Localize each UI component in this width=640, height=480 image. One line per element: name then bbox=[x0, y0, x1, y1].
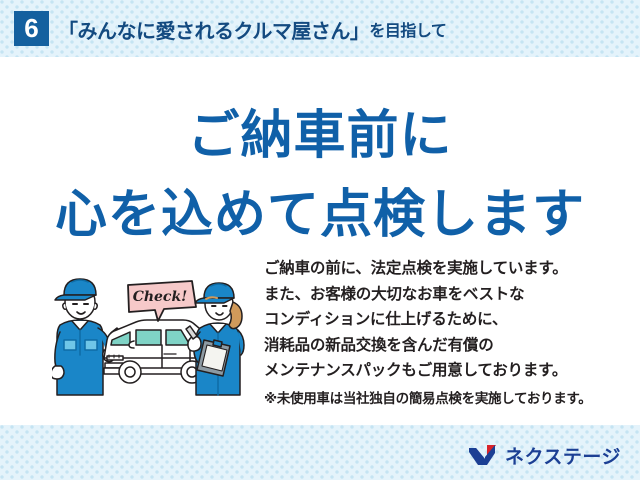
illustration-svg: Check! bbox=[52, 262, 267, 397]
page-title-line-1: ご納車前に bbox=[0, 93, 640, 168]
body-line: コンディションに仕上げるために、 bbox=[264, 307, 616, 333]
body-line: メンテナンスパックもご用意しております。 bbox=[264, 358, 616, 384]
body-footnote: ※未使用車は当社独自の簡易点検を実施しております。 bbox=[264, 386, 616, 412]
mechanics-illustration: Check! bbox=[52, 262, 267, 397]
brand-wordmark: ネクステージ bbox=[505, 442, 621, 469]
body-copy: ご納車の前に、法定点検を実施しています。 また、お客様の大切なお車をベストな コ… bbox=[264, 256, 616, 411]
page-title-line-2: 心を込めて点検します bbox=[0, 172, 640, 247]
check-bubble-label: Check! bbox=[133, 289, 188, 305]
promo-card: 6 「みんなに愛されるクルマ屋さん」 を目指して ご納車前に 心を込めて点検しま… bbox=[0, 0, 640, 480]
check-speech-bubble: Check! bbox=[128, 281, 196, 321]
body-line: ご納車の前に、法定点検を実施しています。 bbox=[264, 256, 616, 282]
body-line: また、お客様の大切なお車をベストな bbox=[264, 282, 616, 308]
body-line: 消耗品の新品交換を含んだ有償の bbox=[264, 333, 616, 359]
header-title-quoted: 「みんなに愛されるクルマ屋さん」 bbox=[58, 15, 369, 44]
section-number-badge: 6 bbox=[14, 11, 49, 46]
nextage-n-mark-icon bbox=[468, 444, 498, 466]
header-title: 「みんなに愛されるクルマ屋さん」 を目指して bbox=[58, 12, 446, 46]
brand-logo: ネクステージ bbox=[468, 442, 621, 468]
header-title-tail: を目指して bbox=[369, 17, 446, 41]
